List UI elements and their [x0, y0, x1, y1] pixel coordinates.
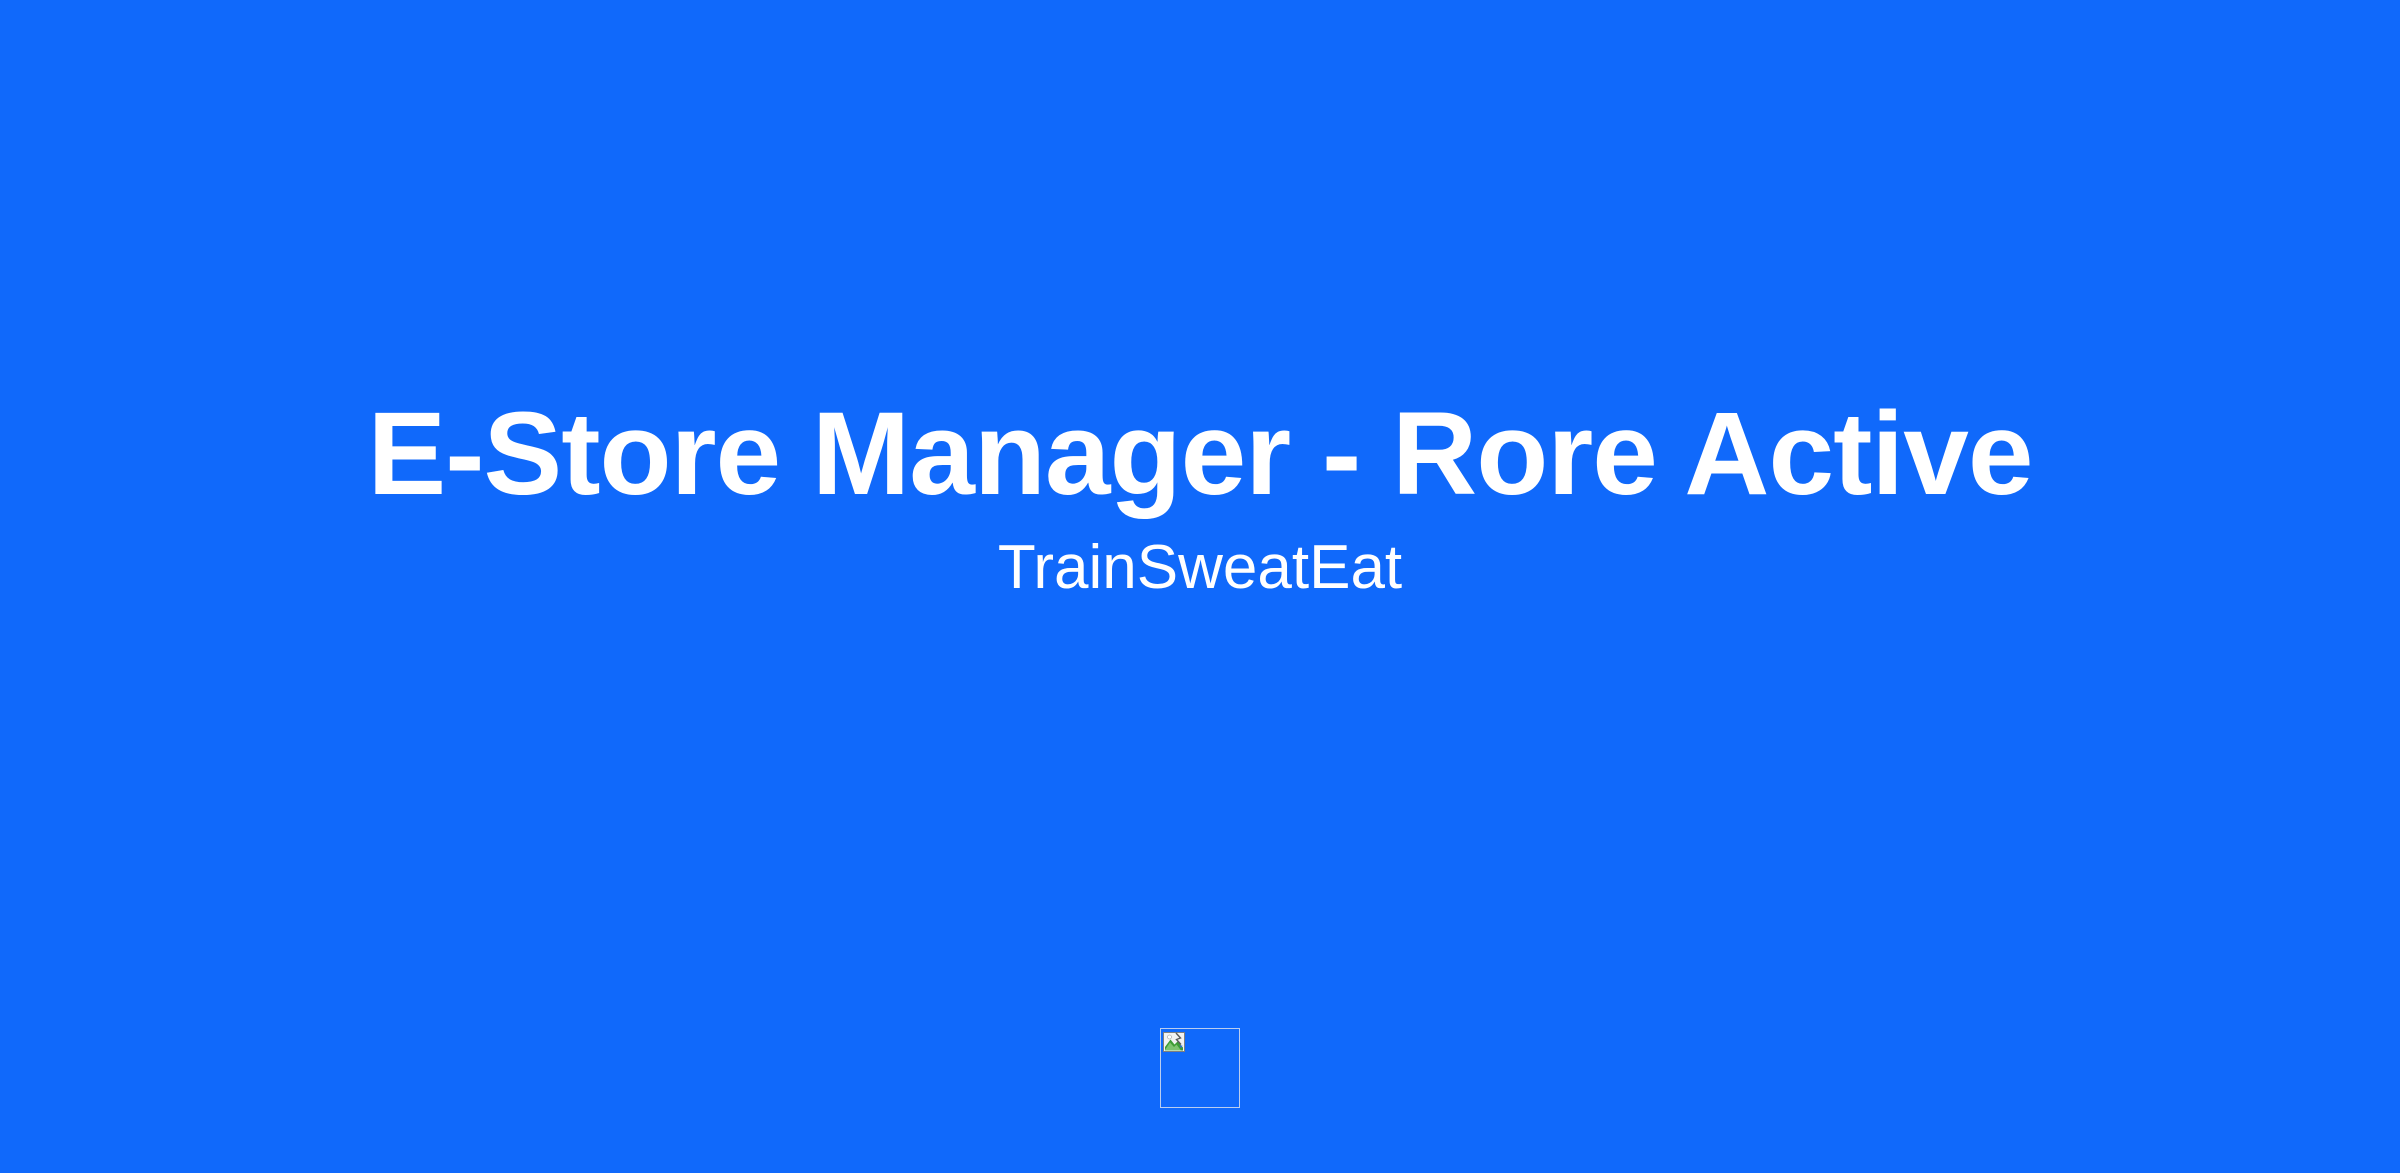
splash-screen: E-Store Manager - Rore Active TrainSweat…	[0, 0, 2400, 1173]
hero-block: E-Store Manager - Rore Active TrainSweat…	[0, 392, 2400, 600]
logo-slot	[1160, 1028, 1240, 1108]
page-title: E-Store Manager - Rore Active	[0, 392, 2400, 517]
page-subtitle: TrainSweatEat	[0, 535, 2400, 600]
broken-image-icon	[1163, 1031, 1185, 1053]
broken-image-placeholder	[1160, 1028, 1240, 1108]
